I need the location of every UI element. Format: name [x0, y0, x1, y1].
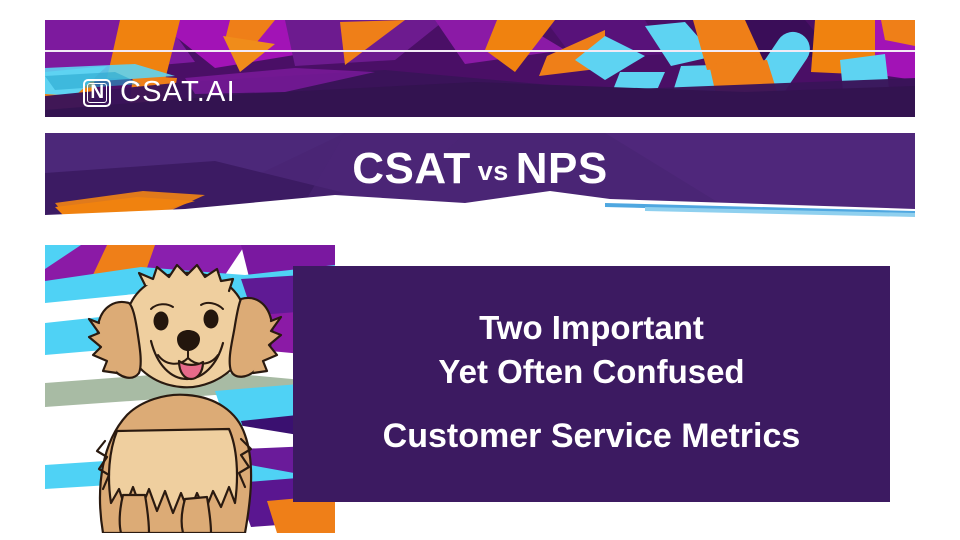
- title-banner: CSATvsNPS: [45, 133, 915, 219]
- title-part-2: NPS: [516, 144, 608, 194]
- message-line-2: Yet Often Confused: [438, 351, 744, 393]
- message-line-1: Two Important: [479, 307, 704, 349]
- golden-retriever-illustration: [45, 245, 335, 533]
- brand-name: CSAT.AI: [120, 78, 236, 107]
- header-banner: N CSAT.AI: [45, 20, 915, 117]
- message-line-3: Customer Service Metrics: [383, 415, 801, 458]
- header-divider-line: [45, 50, 915, 52]
- title-separator: vs: [471, 156, 516, 187]
- slide-canvas: N CSAT.AI CSATvsNPS: [0, 0, 960, 540]
- dog-illustration-panel: [45, 245, 335, 533]
- title-part-1: CSAT: [352, 144, 471, 194]
- page-title: CSATvsNPS: [45, 133, 915, 205]
- nice-n-logo-icon: N: [83, 79, 111, 107]
- message-box: Two Important Yet Often Confused Custome…: [293, 266, 890, 502]
- logo[interactable]: N CSAT.AI: [83, 78, 236, 107]
- logo-mark-letter: N: [90, 83, 103, 102]
